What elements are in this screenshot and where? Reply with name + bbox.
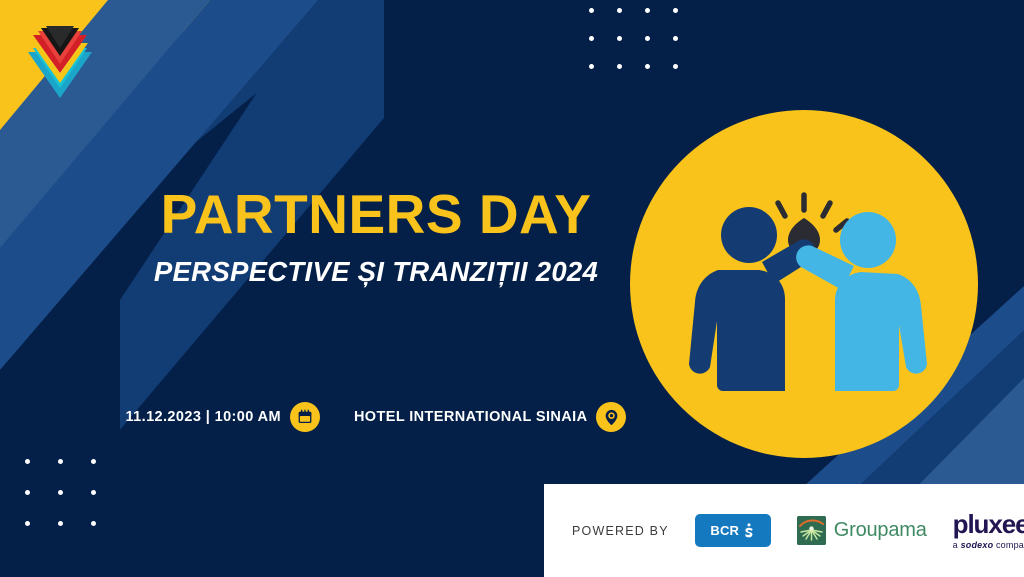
chevron-stack [28,26,92,98]
headline-block: PARTNERS DAY PERSPECTIVE ȘI TRANZIȚII 20… [126,186,626,288]
decor-dot [617,64,622,69]
event-venue-text: HOTEL INTERNATIONAL SINAIA [354,409,588,425]
decor-dot [91,521,96,526]
event-datetime-text: 11.12.2023 | 10:00 AM [126,409,281,425]
bcr-s-symbol-icon [743,523,755,539]
sponsor-logo-pluxee[interactable]: pluxee a sodexo company [953,511,1024,550]
event-venue: HOTEL INTERNATIONAL SINAIA [354,402,627,432]
decor-dot [589,36,594,41]
page-title: PARTNERS DAY [126,186,626,242]
event-banner: PARTNERS DAY PERSPECTIVE ȘI TRANZIȚII 20… [0,0,1024,577]
decor-dot [645,36,650,41]
decor-dot [673,8,678,13]
two-people-high-five-icon [630,110,978,458]
hero-circle-background [630,110,978,458]
sodexo-wordmark: sodexo [961,540,994,550]
layered-chevron-logo [24,26,96,100]
figure-left-body [689,270,785,391]
decor-dot [645,64,650,69]
figure-left-head [721,207,777,263]
decor-dot [91,490,96,495]
sponsor-logo-bcr[interactable]: BCR [695,514,771,547]
location-pin-icon [596,402,626,432]
figure-right-body [835,272,927,391]
sponsor-logo-groupama[interactable]: Groupama [797,516,927,545]
decor-dot [673,36,678,41]
powered-by-label: POWERED BY [572,524,669,538]
calendar-icon [290,402,320,432]
pluxee-wordmark: pluxee [953,511,1024,537]
dot-grid-bottom-left [0,459,124,552]
decor-dot [673,64,678,69]
groupama-wordmark: Groupama [834,519,927,542]
pluxee-tagline-suffix: company [993,540,1024,550]
bcr-wordmark: BCR [710,523,739,538]
decor-dot [617,8,622,13]
decor-dot [25,521,30,526]
decor-dot [58,490,63,495]
event-meta-row: 11.12.2023 | 10:00 AM HOTEL INTERNATIONA… [126,402,626,432]
decor-dot [25,459,30,464]
pluxee-tagline-prefix: a [953,540,961,550]
decor-dot [25,490,30,495]
dot-grid-top [589,8,701,92]
figure-right-head [840,212,896,268]
decor-dot [58,521,63,526]
event-datetime: 11.12.2023 | 10:00 AM [126,402,320,432]
decor-dot [58,459,63,464]
decor-dot [91,459,96,464]
groupama-dandelion-icon [797,516,826,545]
decor-dot [589,64,594,69]
pluxee-tagline: a sodexo company [953,541,1024,550]
decor-dot [617,36,622,41]
sponsor-bar: POWERED BY BCR [544,484,1024,577]
decor-dot [645,8,650,13]
event-subtitle: PERSPECTIVE ȘI TRANZIȚII 2024 [126,256,626,288]
decor-dot [589,8,594,13]
